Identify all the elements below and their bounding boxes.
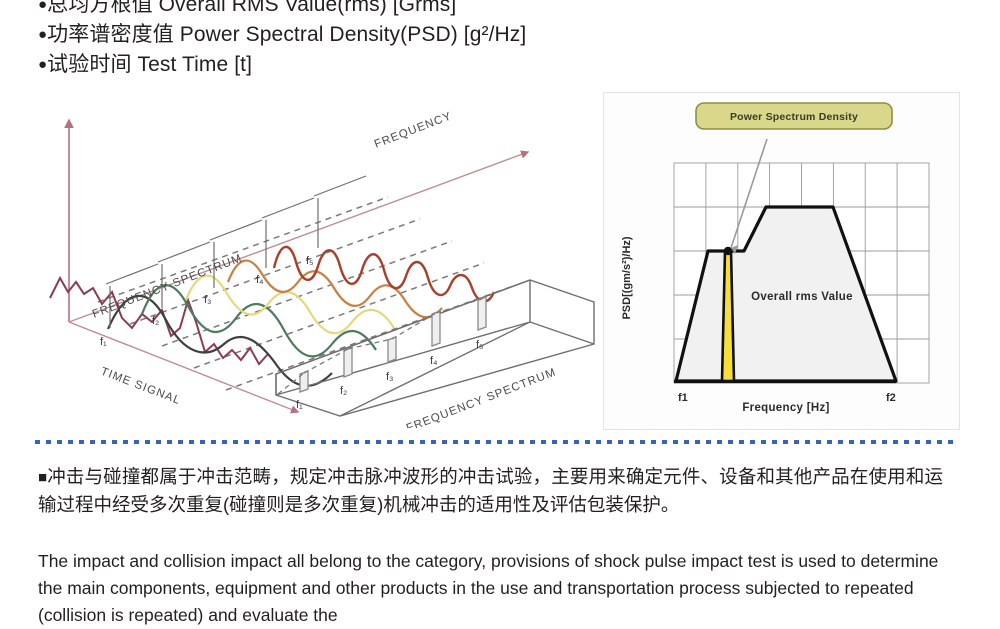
freq-mark-f1: f₁ [100,336,107,348]
x-axis-label: Frequency [Hz] [742,402,829,414]
bullet-dot-icon: ● [38,26,47,43]
freq-mark-f1b: f₁ [296,399,303,411]
psd-marker-point [724,247,732,255]
label-frequency-spectrum-top: FREQUENCY SPECTRUM [91,252,244,320]
x-tick-f2: f2 [886,392,896,404]
freq-mark-f5b: f₅ [476,339,484,351]
chinese-paragraph: ■冲击与碰撞都属于冲击范畴，规定冲击脉冲波形的冲击试验，主要用来确定元件、设备和… [38,463,943,518]
bullet-dot-icon: ● [38,0,47,13]
callout-label: Power Spectrum Density [730,111,858,123]
freq-mark-f3: f₃ [204,294,212,306]
bullet-label: 功率谱密度值 Power Spectral Density(PSD) [g²/H… [47,23,526,46]
dotted-divider [35,440,957,444]
square-bullet-icon: ■ [38,469,47,486]
freq-mark-f4: f₄ [256,274,264,286]
label-frequency-axis: FREQUENCY [373,110,454,151]
chinese-paragraph-text: 冲击与碰撞都属于冲击范畴，规定冲击脉冲波形的冲击试验，主要用来确定元件、设备和其… [38,466,943,515]
waterfall-diagram: f₁ f₂ f₃ f₄ f₅ f₁ f₂ f₃ f₄ f₅ FREQUENCY … [38,92,603,428]
base-slab [276,280,594,416]
x-tick-f1: f1 [678,392,688,404]
bullet-dot-icon: ● [38,56,47,73]
bullet-item: ●试验时间 Test Time [t] [38,50,978,80]
y-axis-label: PSD[(gm/s²)/Hz) [621,236,633,319]
callout-box: Power Spectrum Density [696,103,892,129]
freq-mark-f5: f₅ [306,255,314,267]
psd-chart: Power Spectrum Density Overall rms Value… [603,92,960,430]
figure-band: f₁ f₂ f₃ f₄ f₅ f₁ f₂ f₃ f₄ f₅ FREQUENCY … [38,92,958,428]
overall-rms-label: Overall rms Value [751,291,853,303]
bullet-item: ●功率谱密度值 Power Spectral Density(PSD) [g²/… [38,20,978,50]
freq-mark-f2: f₂ [152,315,159,327]
label-time-signal: TIME SIGNAL [99,366,183,408]
bullet-label: 总均方根值 Overall RMS Value(rms) [Grms] [47,0,456,16]
freq-mark-f3b: f₃ [386,371,394,383]
spectrum-wave-1 [108,296,332,386]
freq-mark-f2b: f₂ [340,385,347,397]
bullet-item: ●总均方根值 Overall RMS Value(rms) [Grms] [38,0,978,20]
freq-mark-f4b: f₄ [430,355,438,367]
key-parameter-list: ●总均方根值 Overall RMS Value(rms) [Grms] ●功率… [38,0,978,80]
bullet-label: 试验时间 Test Time [t] [47,53,252,76]
rms-narrow-band [722,251,734,381]
english-paragraph: The impact and collision impact all belo… [38,548,943,629]
